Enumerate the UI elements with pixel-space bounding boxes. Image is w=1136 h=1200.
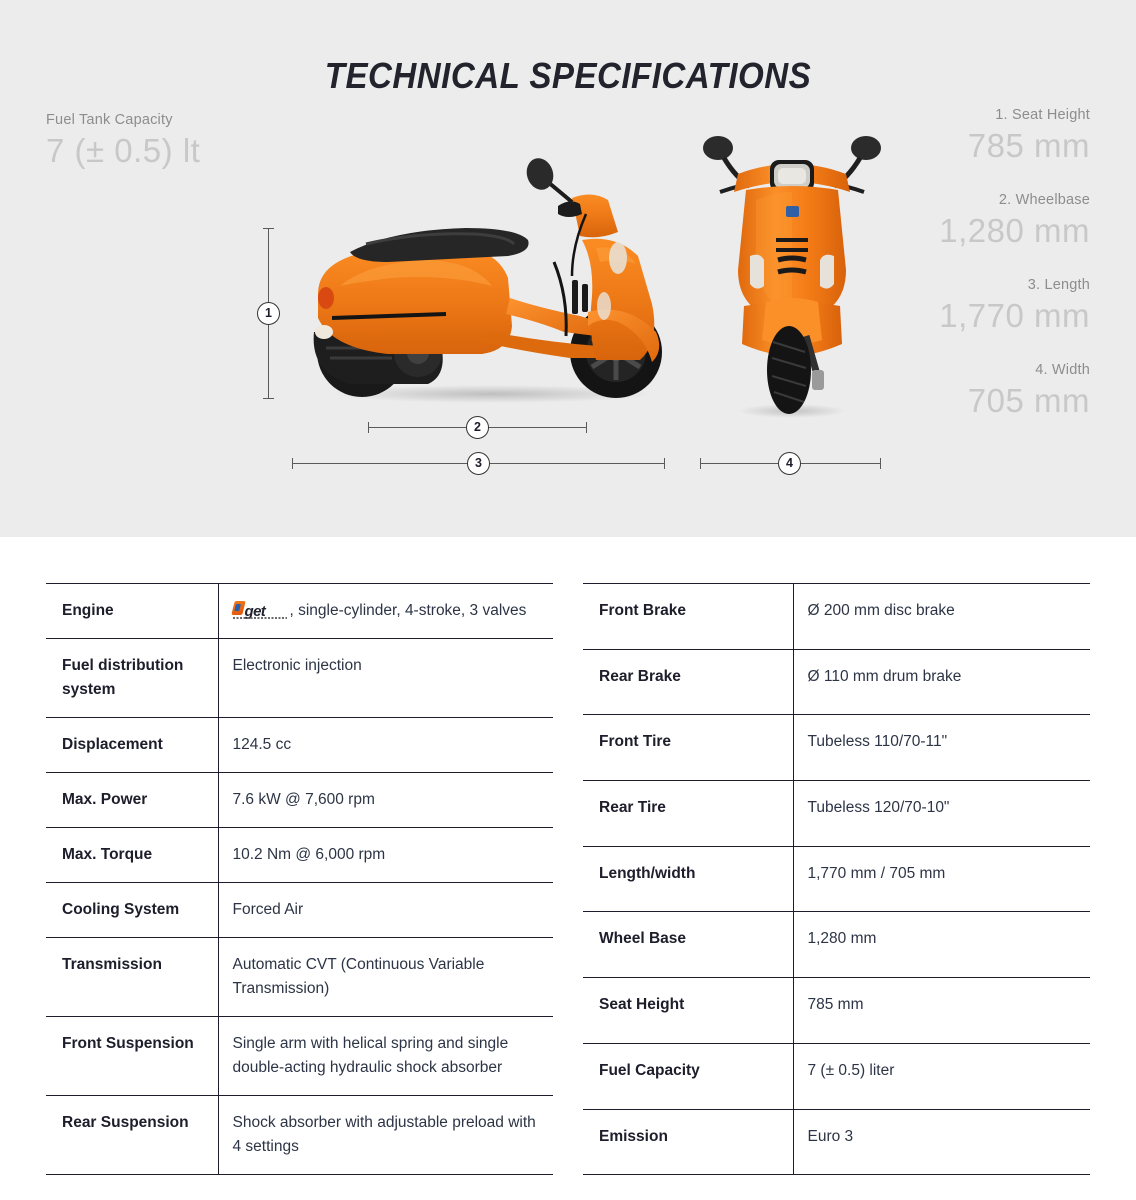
- table-row: Fuel distribution system Electronic inje…: [46, 639, 553, 718]
- spec-value: 10.2 Nm @ 6,000 rpm: [218, 828, 553, 883]
- spec-value: Ø 110 mm drum brake: [793, 649, 1090, 715]
- spec-key: Transmission: [46, 938, 218, 1017]
- table-row: Max. Power 7.6 kW @ 7,600 rpm: [46, 773, 553, 828]
- spec-key: Cooling System: [46, 883, 218, 938]
- spec-value: Tubeless 120/70-10": [793, 781, 1090, 847]
- spec-value: get, single-cylinder, 4-stroke, 3 valves: [218, 584, 553, 639]
- spec-key: Fuel Capacity: [583, 1043, 793, 1109]
- callout-seat-height: 1. Seat Height 785 mm: [968, 105, 1090, 167]
- table-row: Emission Euro 3: [583, 1109, 1090, 1175]
- spec-value: Forced Air: [218, 883, 553, 938]
- callout-label: 1. Seat Height: [968, 105, 1090, 125]
- table-row: Front Brake Ø 200 mm disc brake: [583, 584, 1090, 650]
- callout-value: 1,770 mm: [939, 295, 1090, 336]
- table-row: Wheel Base 1,280 mm: [583, 912, 1090, 978]
- spec-value: 1,280 mm: [793, 912, 1090, 978]
- callout-label: 2. Wheelbase: [939, 190, 1090, 210]
- spec-key: Max. Power: [46, 773, 218, 828]
- table-row: Rear Tire Tubeless 120/70-10": [583, 781, 1090, 847]
- spec-key: Emission: [583, 1109, 793, 1175]
- spec-key: Length/width: [583, 846, 793, 912]
- spec-value: 124.5 cc: [218, 718, 553, 773]
- callout-value: 7 (± 0.5) lt: [46, 130, 200, 171]
- callout-value: 1,280 mm: [939, 210, 1090, 251]
- hero-banner: TECHNICAL SPECIFICATIONS Fuel Tank Capac…: [0, 0, 1136, 537]
- scooter-front-view-image: [694, 130, 890, 420]
- spec-value: Electronic injection: [218, 639, 553, 718]
- spec-value: 1,770 mm / 705 mm: [793, 846, 1090, 912]
- callout-fuel-tank-capacity: Fuel Tank Capacity 7 (± 0.5) lt: [46, 110, 200, 172]
- spec-table-engine: Engine get, single-cylinder, 4-stroke, 3…: [46, 583, 553, 1175]
- spec-key: Engine: [46, 584, 218, 639]
- callout-label: Fuel Tank Capacity: [46, 110, 200, 130]
- spec-value: 7.6 kW @ 7,600 rpm: [218, 773, 553, 828]
- table-row: Rear Brake Ø 110 mm drum brake: [583, 649, 1090, 715]
- spec-value-text: , single-cylinder, 4-stroke, 3 valves: [290, 602, 527, 619]
- spec-key: Rear Tire: [583, 781, 793, 847]
- spec-value: Euro 3: [793, 1109, 1090, 1175]
- spec-key: Front Suspension: [46, 1017, 218, 1096]
- spec-key: Front Brake: [583, 584, 793, 650]
- spec-value: Tubeless 110/70-11": [793, 715, 1090, 781]
- spec-value: Shock absorber with adjustable preload w…: [218, 1096, 553, 1175]
- spec-table-chassis: Front Brake Ø 200 mm disc brake Rear Bra…: [583, 583, 1090, 1175]
- table-row: Rear Suspension Shock absorber with adju…: [46, 1096, 553, 1175]
- callout-width: 4. Width 705 mm: [968, 360, 1090, 422]
- table-row: Length/width 1,770 mm / 705 mm: [583, 846, 1090, 912]
- callout-value: 705 mm: [968, 380, 1090, 421]
- spec-value: Single arm with helical spring and singl…: [218, 1017, 553, 1096]
- spec-key: Displacement: [46, 718, 218, 773]
- dimension-badge-4: 4: [778, 452, 801, 475]
- spec-key: Front Tire: [583, 715, 793, 781]
- i-get-logo-text: get: [245, 600, 266, 623]
- spec-key: Rear Suspension: [46, 1096, 218, 1175]
- spec-value: 785 mm: [793, 978, 1090, 1044]
- callout-value: 785 mm: [968, 125, 1090, 166]
- table-row: Transmission Automatic CVT (Continuous V…: [46, 938, 553, 1017]
- spec-key: Wheel Base: [583, 912, 793, 978]
- spec-key: Max. Torque: [46, 828, 218, 883]
- spec-key: Rear Brake: [583, 649, 793, 715]
- spec-value: Ø 200 mm disc brake: [793, 584, 1090, 650]
- table-row: Max. Torque 10.2 Nm @ 6,000 rpm: [46, 828, 553, 883]
- spec-value: 7 (± 0.5) liter: [793, 1043, 1090, 1109]
- i-get-logo-icon: get: [233, 601, 289, 618]
- table-row: Front Suspension Single arm with helical…: [46, 1017, 553, 1096]
- table-row: Seat Height 785 mm: [583, 978, 1090, 1044]
- callout-length: 3. Length 1,770 mm: [939, 275, 1090, 337]
- table-row: Front Tire Tubeless 110/70-11": [583, 715, 1090, 781]
- callout-label: 4. Width: [968, 360, 1090, 380]
- dimension-badge-2: 2: [466, 416, 489, 439]
- table-row: Displacement 124.5 cc: [46, 718, 553, 773]
- specifications-section: Engine get, single-cylinder, 4-stroke, 3…: [0, 537, 1136, 1175]
- spec-key: Seat Height: [583, 978, 793, 1044]
- dimension-badge-3: 3: [467, 452, 490, 475]
- callout-label: 3. Length: [939, 275, 1090, 295]
- dimension-badge-1: 1: [257, 302, 280, 325]
- spec-key: Fuel distribution system: [46, 639, 218, 718]
- page-title: TECHNICAL SPECIFICATIONS: [45, 55, 1090, 97]
- table-row: Fuel Capacity 7 (± 0.5) liter: [583, 1043, 1090, 1109]
- table-row: Engine get, single-cylinder, 4-stroke, 3…: [46, 584, 553, 639]
- spec-value: Automatic CVT (Continuous Variable Trans…: [218, 938, 553, 1017]
- callout-wheelbase: 2. Wheelbase 1,280 mm: [939, 190, 1090, 252]
- scooter-side-view-image: [296, 136, 688, 412]
- table-row: Cooling System Forced Air: [46, 883, 553, 938]
